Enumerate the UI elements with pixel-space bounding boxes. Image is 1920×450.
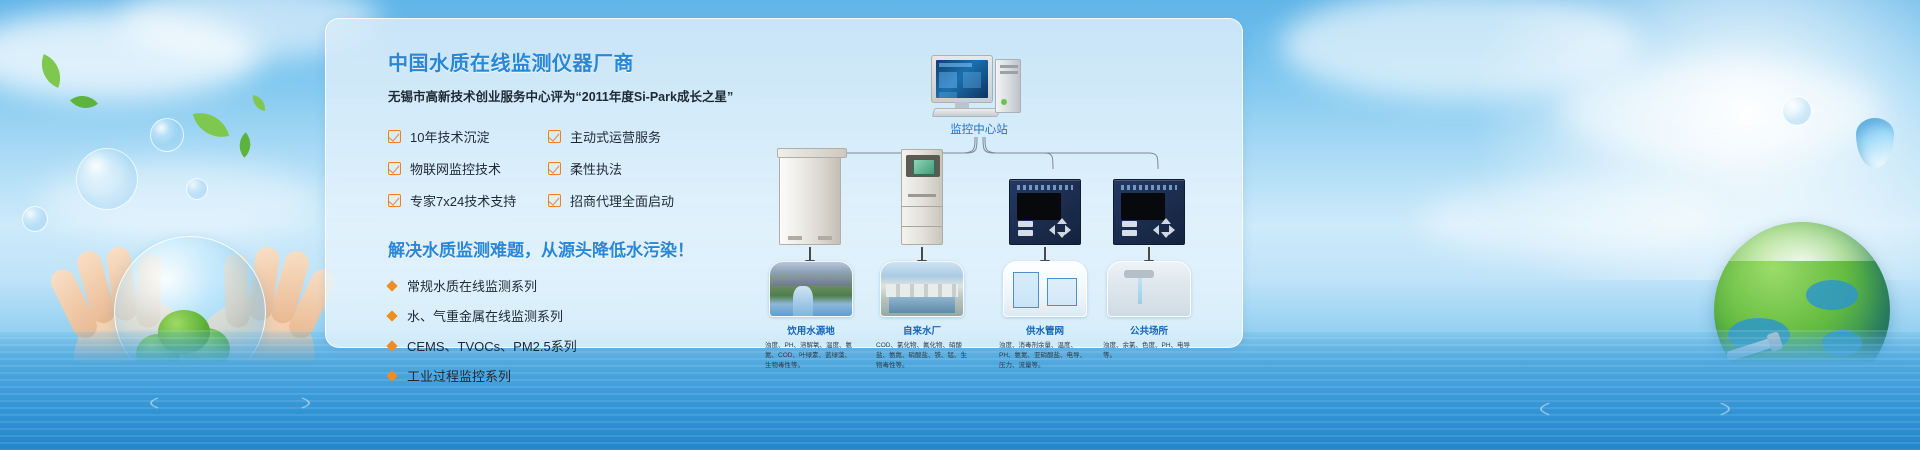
feature-checklist: 10年技术沉淀 主动式运营服务 物联网监控技术 柔性执法 专家7x24技术支持 … xyxy=(388,127,778,210)
checklist-item-label: 主动式运营服务 xyxy=(570,127,661,146)
arrow-down-icon xyxy=(809,247,811,261)
list-item[interactable]: 常规水质在线监测系列 xyxy=(388,276,778,295)
list-item[interactable]: 工业过程监控系列 xyxy=(388,366,778,385)
bubble xyxy=(22,206,48,232)
list-item-label: 水、气重金属在线监测系列 xyxy=(407,306,563,325)
scene-description: COD、氯化物、氟化物、硝酸盐、氨氮、硝酸盐、铁、锰、生物毒性等。 xyxy=(876,341,968,371)
list-item[interactable]: CEMS、TVOCs、PM2.5系列 xyxy=(388,336,778,355)
scene-card[interactable]: 供水管网 浊度、消毒剂余量、温度、PH、氨氮、亚硝酸盐、电导、压力、流量等。 xyxy=(1003,261,1087,371)
checkbox-checked-icon xyxy=(548,194,561,207)
earth-highlight xyxy=(1714,222,1890,261)
checkbox-checked-icon xyxy=(548,162,561,175)
scene-card[interactable]: 自来水厂 COD、氯化物、氟化物、硝酸盐、氨氮、硝酸盐、铁、锰、生物毒性等。 xyxy=(880,261,964,371)
checklist-item[interactable]: 10年技术沉淀 xyxy=(388,127,548,146)
scene-caption: 供水管网 xyxy=(1003,323,1087,337)
keyboard-icon xyxy=(932,108,1001,117)
checklist-item-label: 柔性执法 xyxy=(570,159,622,178)
arrow-down-icon xyxy=(1044,247,1046,261)
computer-icon xyxy=(931,55,1023,117)
diamond-bullet-icon xyxy=(386,310,397,321)
checklist-item[interactable]: 物联网监控技术 xyxy=(388,159,548,178)
slogan-heading: 解决水质监测难题，从源头降低水污染！ xyxy=(388,236,778,261)
scene-image xyxy=(1003,261,1087,317)
checkbox-checked-icon xyxy=(388,130,401,143)
scene-caption: 饮用水源地 xyxy=(769,323,853,337)
diamond-bullet-icon xyxy=(386,280,397,291)
page-subtitle: 无锡市高新技术创业服务中心评为“2011年度Si-Park成长之星” xyxy=(388,86,778,105)
scene-description: 浊度、余氯、色度、PH、电导等。 xyxy=(1103,341,1195,361)
scene-description: 浊度、消毒剂余量、温度、PH、氨氮、亚硝酸盐、电导、压力、流量等。 xyxy=(999,341,1091,371)
scene-caption: 公共场所 xyxy=(1107,323,1191,337)
scene-card[interactable]: 公共场所 浊度、余氯、色度、PH、电导等。 xyxy=(1107,261,1191,361)
controller-device[interactable] xyxy=(1009,179,1081,245)
scene-description: 浊度、PH、溶解氧、温度、氨氮、COD、叶绿素、蓝绿藻、生物毒性等。 xyxy=(765,341,857,371)
checklist-item[interactable]: 柔性执法 xyxy=(548,159,708,178)
monitoring-cabinet-device[interactable] xyxy=(779,153,841,245)
product-series-list: 常规水质在线监测系列 水、气重金属在线监测系列 CEMS、TVOCs、PM2.5… xyxy=(388,276,778,385)
water-ripple xyxy=(1540,394,1730,424)
checklist-item[interactable]: 招商代理全面启动 xyxy=(548,191,708,210)
bubble xyxy=(76,148,138,210)
scene-image xyxy=(769,261,853,317)
checkbox-checked-icon xyxy=(388,162,401,175)
checklist-item-label: 专家7x24技术支持 xyxy=(410,191,516,210)
checklist-item[interactable]: 专家7x24技术支持 xyxy=(388,191,548,210)
checklist-item-label: 招商代理全面启动 xyxy=(570,191,674,210)
arrow-down-icon xyxy=(921,247,923,261)
water-ripple xyxy=(150,390,310,416)
checklist-item-label: 物联网监控技术 xyxy=(410,159,501,178)
bubble xyxy=(186,178,208,200)
leaf-icon xyxy=(232,132,257,157)
controller-device[interactable] xyxy=(1113,179,1185,245)
list-item[interactable]: 水、气重金属在线监测系列 xyxy=(388,306,778,325)
leaf-icon xyxy=(251,95,267,111)
earth-sea xyxy=(1806,280,1858,310)
diamond-bullet-icon xyxy=(386,370,397,381)
pc-tower-icon xyxy=(995,59,1021,113)
scene-image xyxy=(880,261,964,317)
scene-caption: 自来水厂 xyxy=(880,323,964,337)
checkbox-checked-icon xyxy=(548,130,561,143)
scene-card[interactable]: 饮用水源地 浊度、PH、溶解氧、温度、氨氮、COD、叶绿素、蓝绿藻、生物毒性等。 xyxy=(769,261,853,371)
monitor-icon xyxy=(931,55,993,103)
checkbox-checked-icon xyxy=(388,194,401,207)
leaf-icon xyxy=(193,107,229,143)
list-item-label: CEMS、TVOCs、PM2.5系列 xyxy=(407,336,577,355)
checklist-item[interactable]: 主动式运营服务 xyxy=(548,127,708,146)
scene-image xyxy=(1107,261,1191,317)
content-panel: 中国水质在线监测仪器厂商 无锡市高新技术创业服务中心评为“2011年度Si-Pa… xyxy=(325,18,1243,348)
device-row xyxy=(761,145,1231,245)
cloud xyxy=(1560,60,1880,160)
water-analyzer-device[interactable] xyxy=(901,149,943,245)
checklist-item-label: 10年技术沉淀 xyxy=(410,127,489,146)
arrow-down-icon xyxy=(1148,247,1150,261)
panel-left-column: 中国水质在线监测仪器厂商 无锡市高新技术创业服务中心评为“2011年度Si-Pa… xyxy=(388,47,778,396)
diamond-bullet-icon xyxy=(386,340,397,351)
list-item-label: 常规水质在线监测系列 xyxy=(407,276,537,295)
bubble xyxy=(150,118,184,152)
system-diagram: 监控中心站 xyxy=(761,33,1231,343)
bubble xyxy=(1782,96,1812,126)
cloud xyxy=(1420,180,1720,260)
page-title: 中国水质在线监测仪器厂商 xyxy=(388,47,778,76)
list-item-label: 工业过程监控系列 xyxy=(407,366,511,385)
